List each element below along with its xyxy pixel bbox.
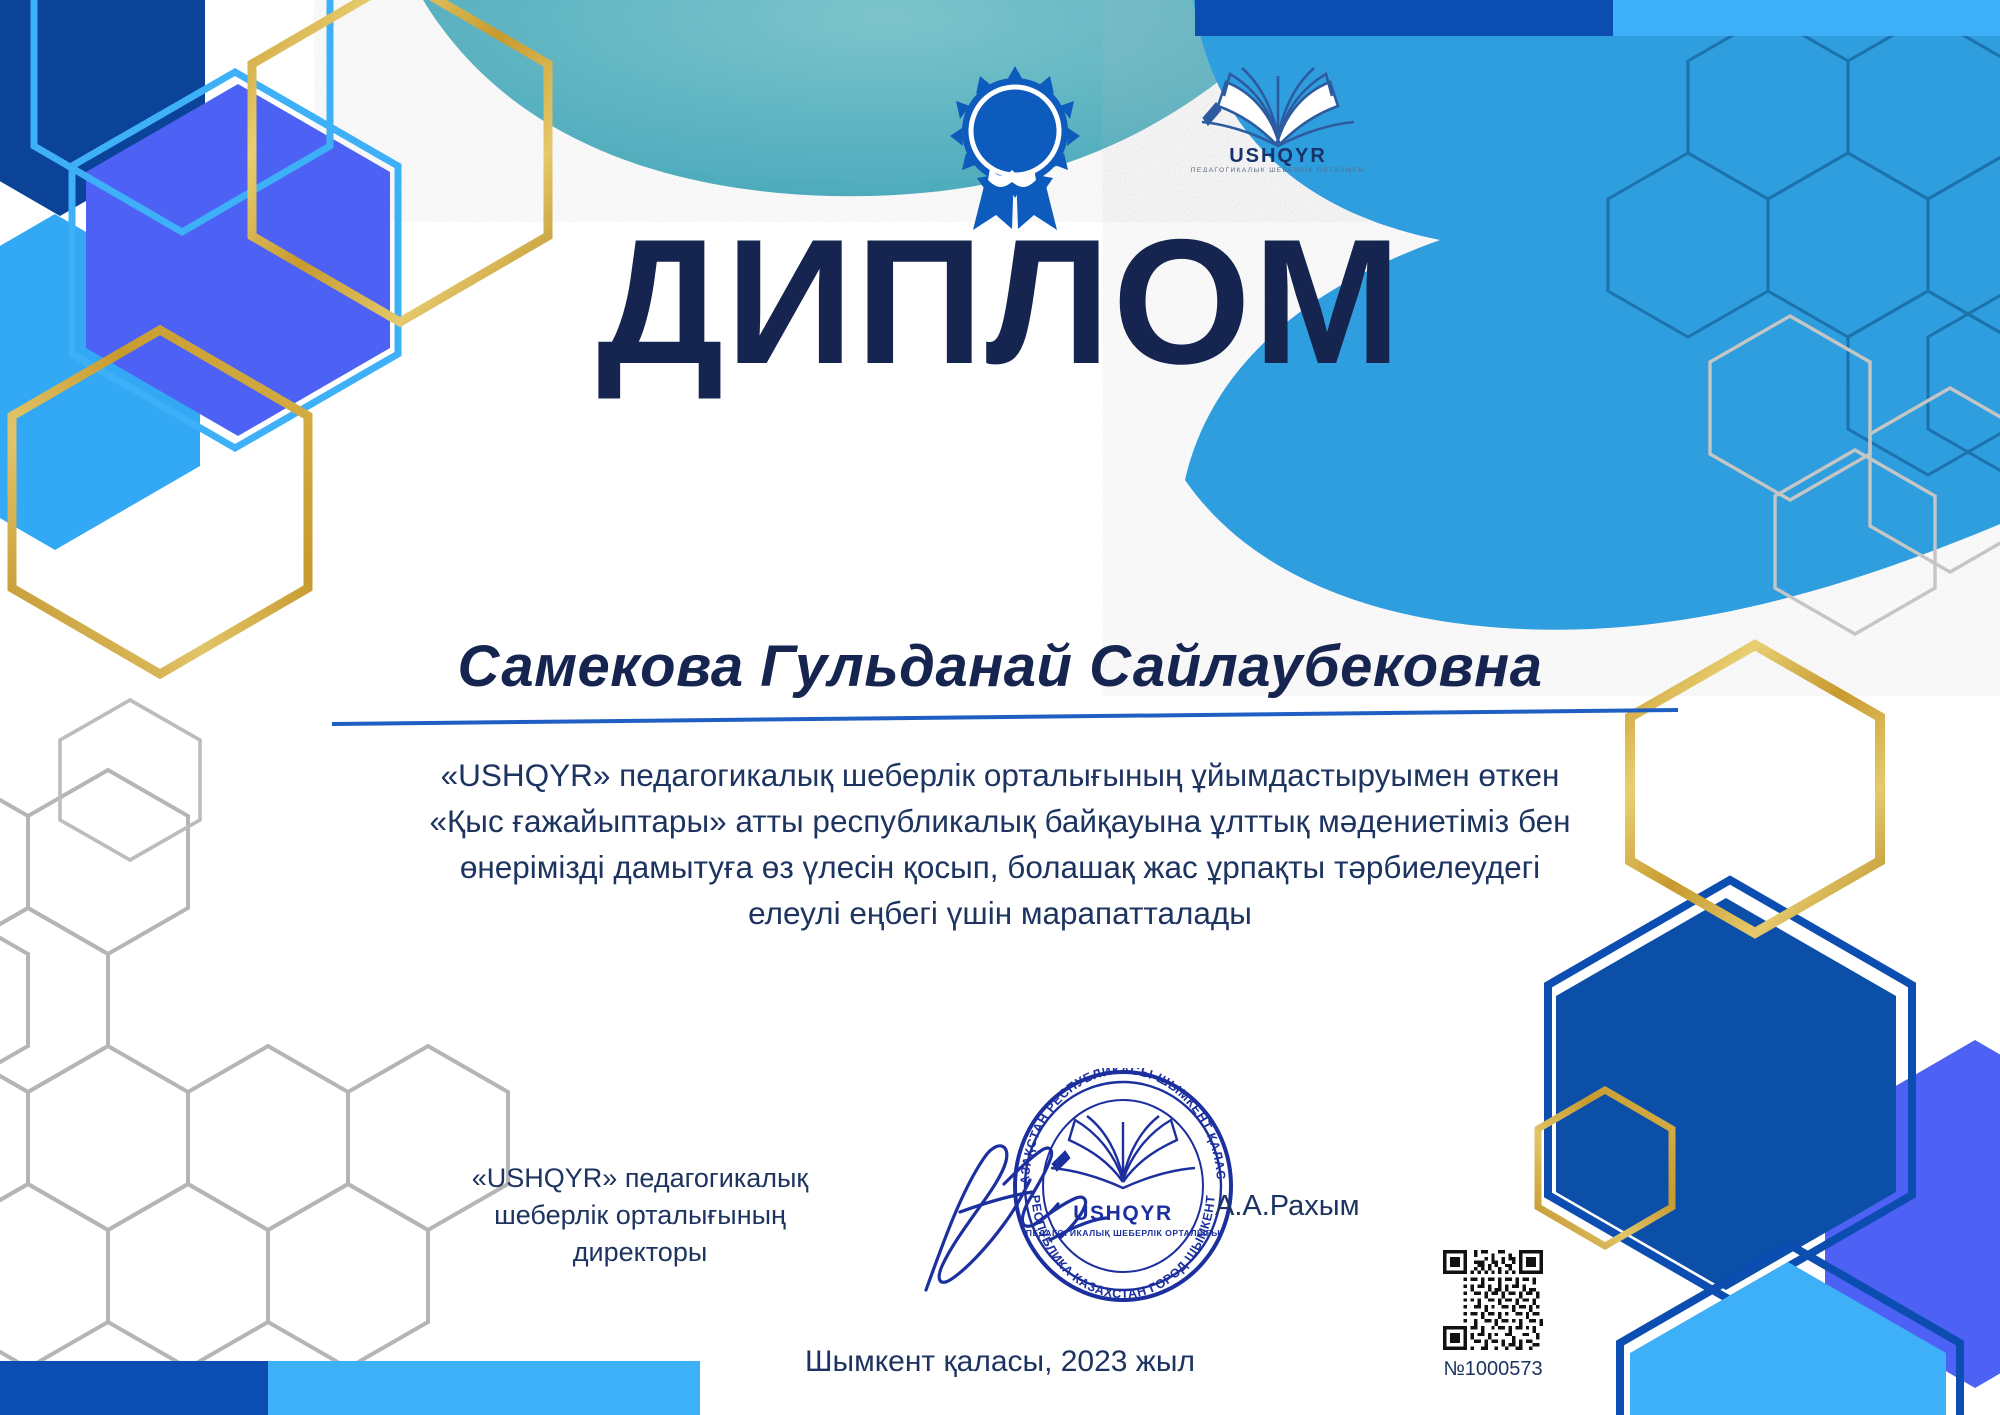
- serial-number: №1000573: [1428, 1358, 1558, 1381]
- stamp-center-tagline: ПЕДАГОГИКАЛЫҚ ШЕБЕРЛІК ОРТАЛЫҒЫ: [1026, 1228, 1220, 1238]
- signature-role-line-1: «USHQYR» педагогикалық: [440, 1160, 840, 1197]
- citation-line-3: өнерімізді дамытуға өз үлесін қосып, бол…: [330, 844, 1670, 890]
- stamp-book-icon: [1051, 1116, 1195, 1188]
- official-seal-icon: ҚАЗАҚСТАН РЕСПУБЛИКАСЫ ШЫМКЕНТ ҚАЛАСЫ РЕ…: [1005, 1068, 1240, 1303]
- citation-line-1: «USHQYR» педагогикалық шеберлік орталығы…: [330, 752, 1670, 798]
- signer-name: А.А.Рахым: [1215, 1190, 1360, 1223]
- logo-tagline: ПЕДАГОГИКАЛЫҚ ШЕБЕРЛІК ОРТАЛЫҒЫ: [1191, 167, 1365, 172]
- name-underline: [330, 690, 1680, 730]
- ushqyr-logo: USHQYR ПЕДАГОГИКАЛЫҚ ШЕБЕРЛІК ОРТАЛЫҒЫ: [1178, 52, 1378, 172]
- signature-role: «USHQYR» педагогикалық шеберлік орталығы…: [440, 1160, 840, 1271]
- citation-text: «USHQYR» педагогикалық шеберлік орталығы…: [330, 752, 1670, 936]
- stamp-center-name: USHQYR: [1073, 1202, 1172, 1225]
- diploma-certificate: USHQYR ПЕДАГОГИКАЛЫҚ ШЕБЕРЛІК ОРТАЛЫҒЫ Д…: [0, 0, 2000, 1415]
- page-title: ДИПЛОМ: [0, 213, 2000, 391]
- qr-code: [1443, 1250, 1543, 1350]
- open-book-icon: [1202, 68, 1354, 146]
- logo-name: USHQYR: [1229, 145, 1327, 167]
- signature-role-line-2: шеберлік орталығының директоры: [440, 1197, 840, 1271]
- citation-line-2: «Қыс ғажайыптары» атты республикалық бай…: [330, 798, 1670, 844]
- place-and-year: Шымкент қаласы, 2023 жыл: [0, 1345, 2000, 1379]
- citation-line-4: елеулі еңбегі үшін марапатталады: [330, 890, 1670, 936]
